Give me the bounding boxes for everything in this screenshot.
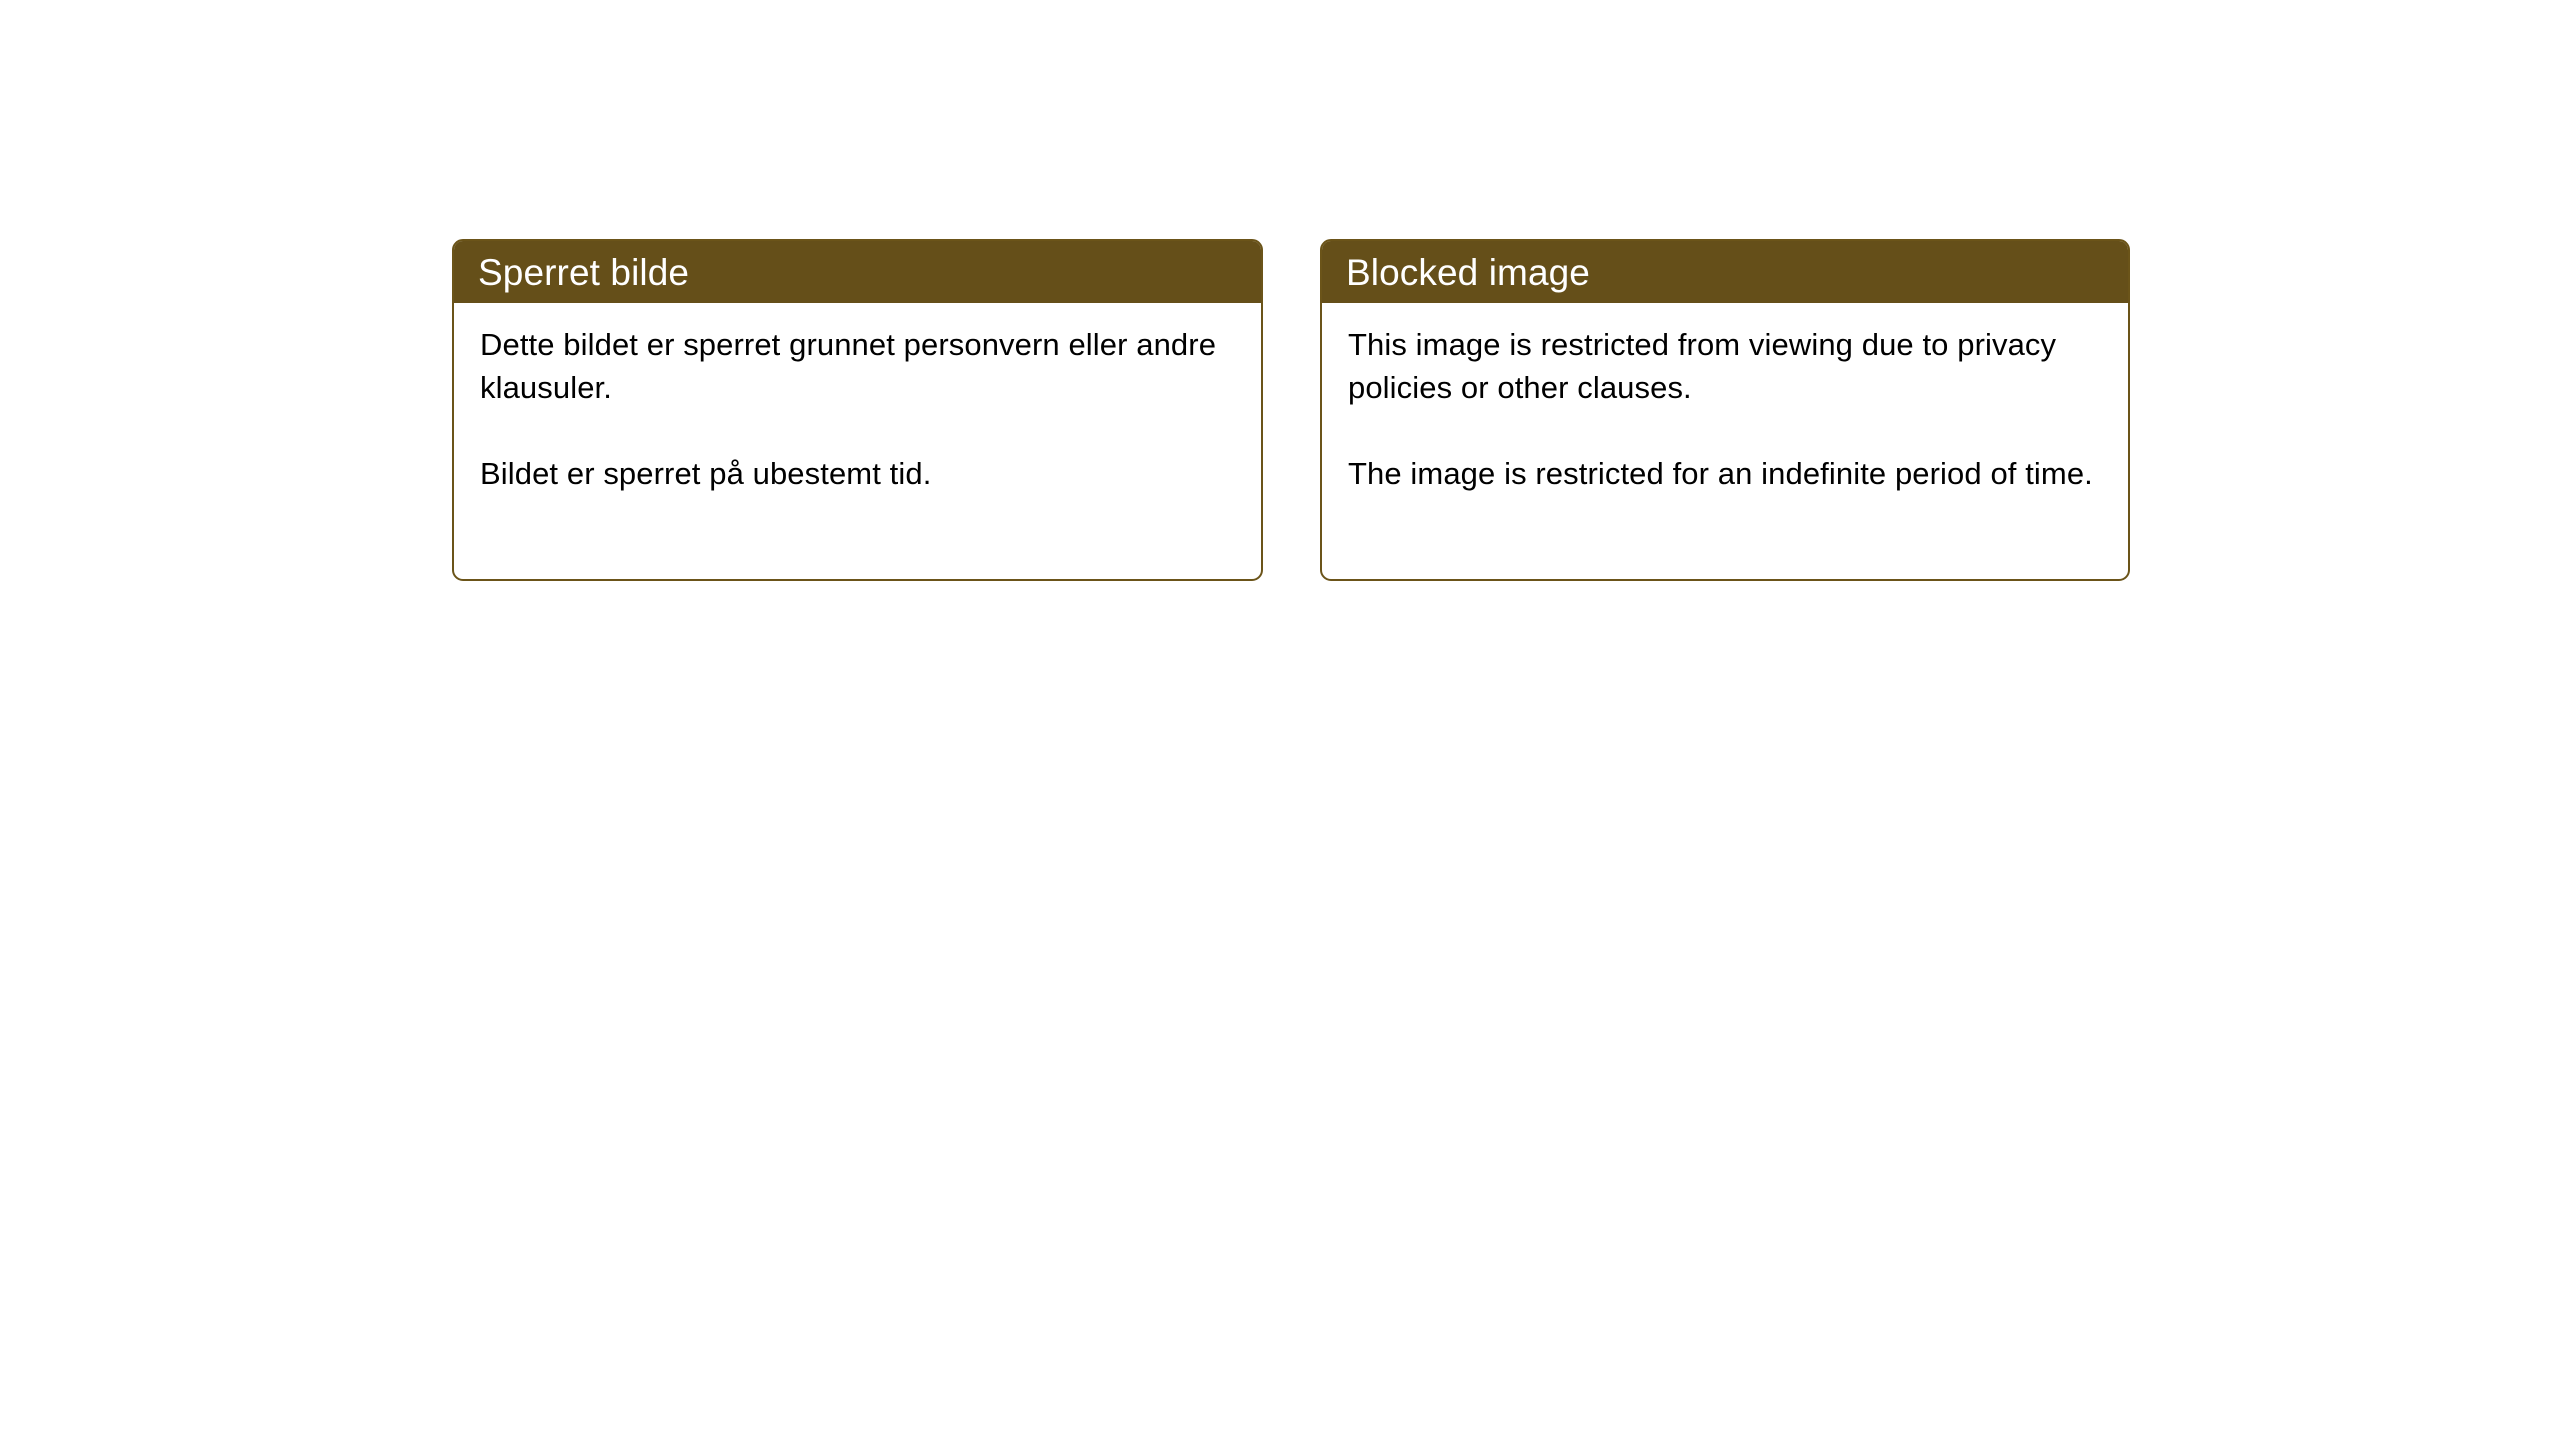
blocked-image-notice-english: Blocked image This image is restricted f…	[1320, 239, 2130, 581]
card-title-english: Blocked image	[1346, 254, 1590, 291]
card-body-norwegian: Dette bildet er sperret grunnet personve…	[454, 303, 1261, 495]
card-header-norwegian: Sperret bilde	[454, 241, 1261, 303]
card-paragraph-secondary-english: The image is restricted for an indefinit…	[1348, 452, 2102, 495]
blocked-image-notice-norwegian: Sperret bilde Dette bildet er sperret gr…	[452, 239, 1263, 581]
card-paragraph-primary-english: This image is restricted from viewing du…	[1348, 323, 2102, 409]
paragraph-spacer	[1348, 409, 2102, 452]
card-paragraph-secondary-norwegian: Bildet er sperret på ubestemt tid.	[480, 452, 1235, 495]
page-canvas: Sperret bilde Dette bildet er sperret gr…	[0, 0, 2560, 1440]
card-header-english: Blocked image	[1322, 241, 2128, 303]
card-body-english: This image is restricted from viewing du…	[1322, 303, 2128, 495]
card-paragraph-primary-norwegian: Dette bildet er sperret grunnet personve…	[480, 323, 1235, 409]
card-title-norwegian: Sperret bilde	[478, 254, 689, 291]
paragraph-spacer	[480, 409, 1235, 452]
